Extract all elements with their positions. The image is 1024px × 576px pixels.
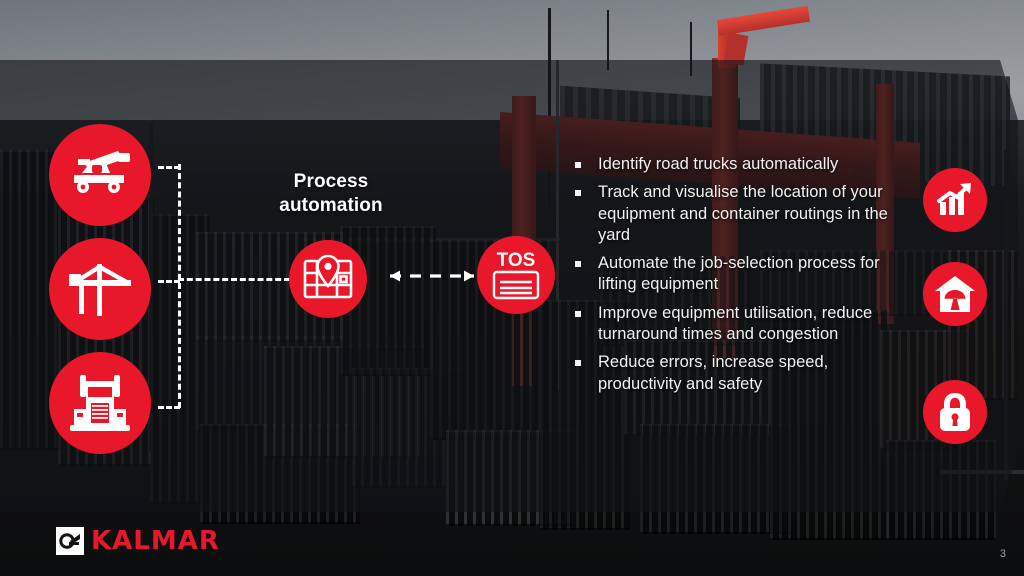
benefit-icon-growth-chart[interactable] [923, 168, 987, 232]
road-truck-icon [66, 369, 134, 437]
bullet-square-icon [575, 261, 581, 267]
list-item: Identify road trucks automatically [572, 154, 902, 175]
bullet-text: Track and visualise the location of your… [598, 183, 888, 244]
reachstacker-icon [66, 141, 134, 209]
tos-terminal-operating-system-icon: TOS [486, 246, 546, 304]
process-automation-title: Process automation [238, 170, 424, 219]
bullet-text: Improve equipment utilisation, reduce tu… [598, 304, 872, 343]
title-line-1: Process [238, 170, 424, 194]
bullet-square-icon [575, 190, 581, 196]
benefit-icon-safety-house[interactable] [923, 262, 987, 326]
safety-house-icon [934, 273, 976, 315]
map-location-pin-icon [302, 253, 354, 305]
slide-canvas: Process automation TOS [0, 0, 1024, 576]
equipment-icon-road-truck[interactable] [49, 352, 151, 454]
connector-stub-crane [158, 280, 180, 283]
bidirectional-dashed-arrow-icon [378, 262, 486, 290]
growth-chart-icon [935, 180, 975, 220]
list-item: Reduce errors, increase speed, productiv… [572, 352, 902, 395]
equipment-icon-gantry-crane[interactable] [49, 238, 151, 340]
benefits-bullet-list: Identify road trucks automatically Track… [572, 154, 902, 402]
padlock-icon [935, 391, 975, 433]
bullet-square-icon [575, 162, 581, 168]
bullet-square-icon [575, 311, 581, 317]
equipment-icon-reachstacker[interactable] [49, 124, 151, 226]
bullet-text: Automate the job-selection process for l… [598, 254, 880, 293]
kalmar-square-mark [56, 527, 84, 555]
connector-vertical-bus [178, 164, 181, 408]
bullet-square-icon [575, 360, 581, 366]
kalmar-wordmark: KALMAR [91, 528, 220, 554]
connector-stub-truck [158, 406, 180, 409]
connector-bus-to-map-icon [178, 278, 290, 281]
kalmar-logo[interactable]: KALMAR [56, 527, 220, 555]
list-item: Automate the job-selection process for l… [572, 253, 902, 296]
process-icon-map-location[interactable] [289, 240, 367, 318]
list-item: Improve equipment utilisation, reduce tu… [572, 303, 902, 346]
process-icon-tos[interactable]: TOS [477, 236, 555, 314]
bullet-text: Identify road trucks automatically [598, 155, 838, 173]
page-number: 3 [1000, 548, 1006, 560]
title-line-2: automation [238, 194, 424, 218]
connector-map-to-tos-arrow [378, 262, 486, 290]
bullet-text: Reduce errors, increase speed, productiv… [598, 353, 828, 392]
connector-stub-reachstacker [158, 166, 180, 169]
tos-label-text: TOS [497, 250, 536, 271]
kalmar-mark-glyph [58, 529, 82, 553]
list-item: Track and visualise the location of your… [572, 182, 902, 246]
gantry-crane-icon [65, 254, 135, 324]
benefit-icon-padlock[interactable] [923, 380, 987, 444]
